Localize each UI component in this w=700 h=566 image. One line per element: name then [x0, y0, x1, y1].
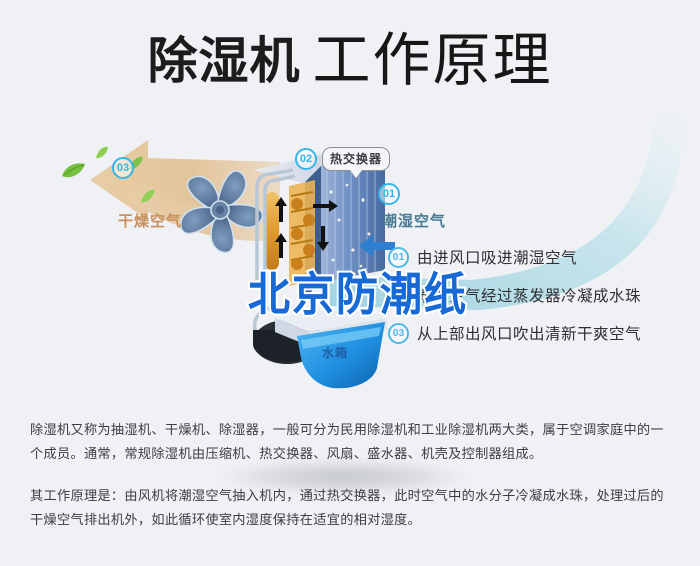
label-water-tank: 水箱	[322, 344, 348, 361]
watermark-outline: 北京防潮纸	[248, 258, 468, 324]
leaf-icon	[95, 146, 109, 165]
badge-01: 01	[378, 183, 400, 205]
description-block: 除湿机又称为抽湿机、干燥机、除湿器，一般可分为民用除湿机和工业除湿机两大类，属于…	[30, 418, 675, 550]
paragraph-2: 其工作原理是：由风机将潮湿空气抽入机内，通过热交换器，此时空气中的水分子冷凝成水…	[30, 484, 675, 532]
label-dry-air: 干燥空气	[118, 210, 182, 231]
label-humid-air: 潮湿空气	[382, 210, 446, 231]
page-title: 除湿机 工作原理	[0, 22, 700, 100]
callout-heat-exchanger: 热交换器	[322, 147, 390, 171]
page-title-part2: 工作原理	[312, 32, 552, 90]
badge-02: 02	[295, 148, 317, 170]
infographic-page: 除湿机 工作原理	[0, 0, 700, 566]
step-badge-03: 03	[388, 323, 409, 344]
page-title-part1: 除湿机	[147, 36, 300, 86]
leaf-icon	[140, 188, 156, 209]
leaf-icon	[60, 162, 86, 185]
step-text-03: 从上部出风口吹出清新干爽空气	[417, 322, 641, 344]
paragraph-1: 除湿机又称为抽湿机、干燥机、除湿器，一般可分为民用除湿机和工业除湿机两大类，属于…	[30, 418, 675, 466]
badge-03: 03	[112, 157, 134, 179]
